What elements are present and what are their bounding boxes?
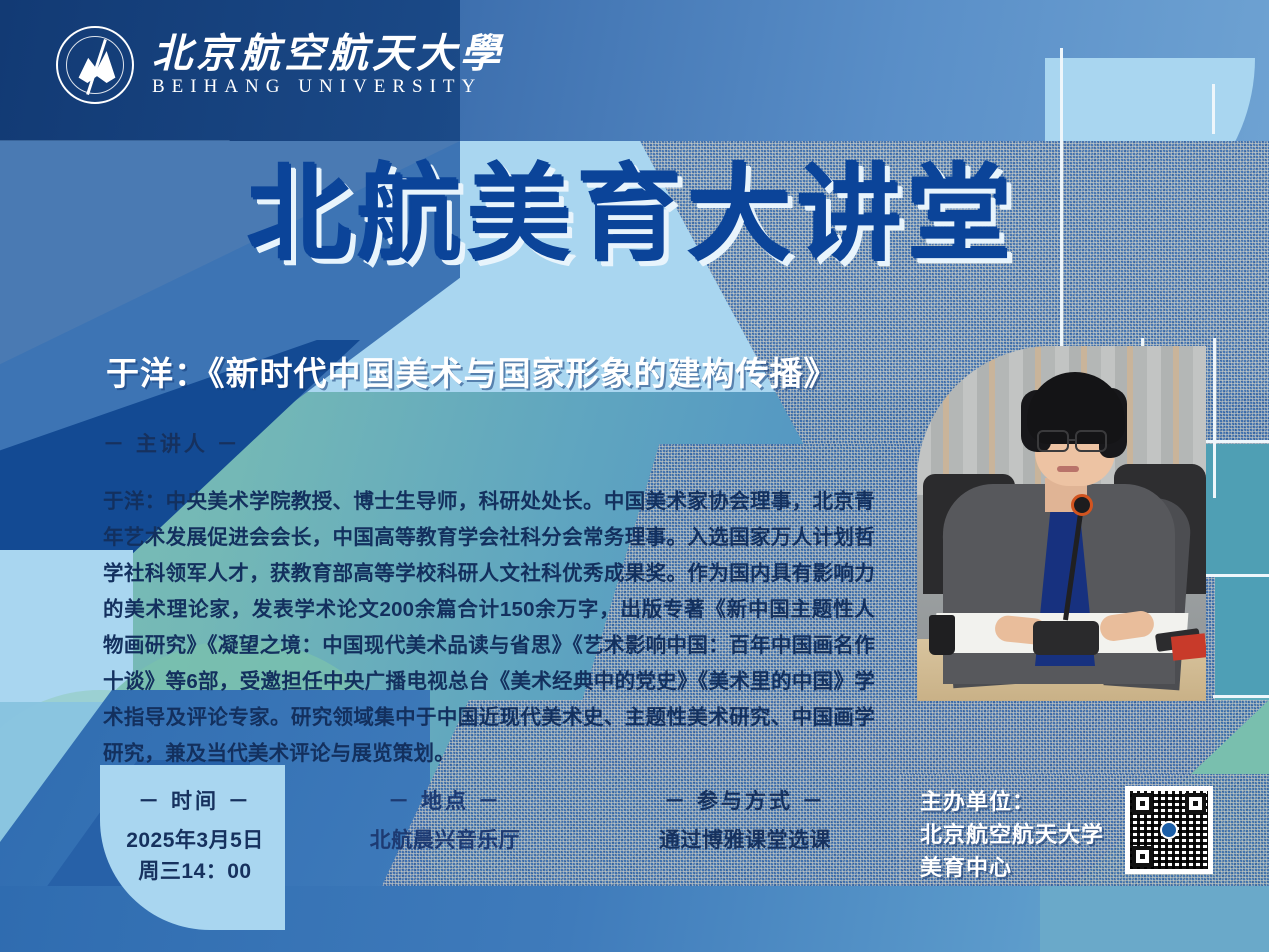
qr-code[interactable] xyxy=(1125,786,1213,874)
photo-red-object xyxy=(1171,633,1206,660)
lecture-subtitle: 于洋：《新时代中国美术与国家形象的建构传播》 xyxy=(106,347,838,395)
speaker-section-label: － 主讲人 － xyxy=(103,428,241,458)
page-title: 北航美育大讲堂 xyxy=(248,163,1018,267)
decor-vertical-line-5 xyxy=(1213,338,1216,498)
host-label: 主办单位： xyxy=(920,785,1104,818)
photo-microphone-base xyxy=(1033,621,1099,655)
photo-mouth xyxy=(1057,466,1079,472)
decor-vertical-line-2 xyxy=(1212,84,1215,134)
info-time-date: 2025年3月5日 xyxy=(100,825,290,856)
logo-english-name: BEIHANG UNIVERSITY xyxy=(152,77,504,98)
speaker-photo xyxy=(917,346,1206,701)
host-line-1: 北京航空航天大学 xyxy=(920,818,1104,851)
photo-microphone-head xyxy=(1071,494,1093,516)
photo-cup xyxy=(929,615,955,655)
info-time-header: － 时间 － xyxy=(100,785,290,815)
host-organization: 主办单位： 北京航空航天大学 美育中心 xyxy=(920,785,1104,884)
host-line-2: 美育中心 xyxy=(920,851,1104,884)
decor-tile-3 xyxy=(1215,576,1269,696)
decor-horizontal-line-2 xyxy=(1213,695,1269,698)
info-join-method: 通过博雅课堂选课 xyxy=(620,825,870,856)
photo-glasses-right xyxy=(1075,430,1107,452)
info-join: － 参与方式 － 通过博雅课堂选课 xyxy=(620,785,870,856)
logo-text-block: 北京航空航天大學 BEIHANG UNIVERSITY xyxy=(152,33,504,98)
poster-root: 北京航空航天大學 BEIHANG UNIVERSITY 北航美育大讲堂 于洋：《… xyxy=(0,0,1269,952)
info-time: － 时间 － 2025年3月5日 周三14：00 xyxy=(100,785,290,887)
qr-finder-top-right xyxy=(1185,793,1206,814)
photo-glasses-bridge xyxy=(1068,439,1077,441)
info-join-header: － 参与方式 － xyxy=(620,785,870,815)
university-logo: 北京航空航天大學 BEIHANG UNIVERSITY xyxy=(56,26,504,104)
photo-glasses-left xyxy=(1037,430,1069,452)
qr-code-pattern xyxy=(1130,791,1208,869)
info-time-clock: 周三14：00 xyxy=(100,856,290,887)
decor-vertical-line-1 xyxy=(1060,48,1063,373)
university-seal-icon xyxy=(56,26,134,104)
info-place-venue: 北航晨兴音乐厅 xyxy=(330,825,560,856)
qr-center-logo-icon xyxy=(1160,821,1178,839)
info-place-header: － 地点 － xyxy=(330,785,560,815)
info-place: － 地点 － 北航晨兴音乐厅 xyxy=(330,785,560,856)
footer-band-right xyxy=(1040,886,1269,952)
logo-chinese-name: 北京航空航天大學 xyxy=(152,33,504,75)
speaker-biography: 于洋：中央美术学院教授、博士生导师，科研处处长。中国美术家协会理事，北京青年艺术… xyxy=(103,484,875,772)
qr-finder-bottom-left xyxy=(1132,846,1153,867)
qr-finder-top-left xyxy=(1132,793,1153,814)
